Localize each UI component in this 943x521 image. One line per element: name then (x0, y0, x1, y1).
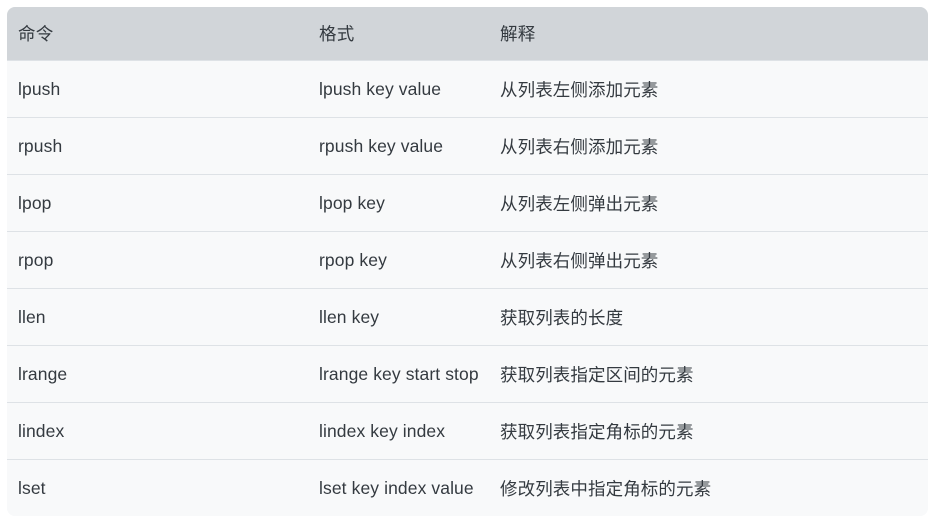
cell-command: lrange (7, 346, 163, 403)
column-header-description-label: 解释 (500, 21, 928, 46)
column-header-format: 格式 (163, 7, 500, 61)
column-header-command-label: 命令 (7, 21, 163, 46)
cell-command: rpop (7, 232, 163, 289)
cell-description-text: 从列表左侧添加元素 (500, 77, 928, 102)
cell-description: 修改列表中指定角标的元素 (500, 460, 928, 517)
cell-command-text: lpop (7, 193, 163, 214)
cell-format: rpop key (163, 232, 500, 289)
cell-command: lpop (7, 175, 163, 232)
cell-command: lpush (7, 61, 163, 118)
cell-format: lpop key (163, 175, 500, 232)
table-row: rpush rpush key value 从列表右侧添加元素 (7, 118, 928, 175)
cell-command: llen (7, 289, 163, 346)
cell-format-text: lrange key start stop (163, 364, 500, 385)
cell-format-text: rpush key value (163, 136, 500, 157)
cell-description-text: 从列表左侧弹出元素 (500, 191, 928, 216)
cell-command-text: lrange (7, 364, 163, 385)
table-row: llen llen key 获取列表的长度 (7, 289, 928, 346)
cell-format-text: lpush key value (163, 79, 500, 100)
cell-format-text: lset key index value (163, 478, 500, 499)
cell-command: lindex (7, 403, 163, 460)
cell-format: lrange key start stop (163, 346, 500, 403)
cell-format-text: lpop key (163, 193, 500, 214)
cell-format: rpush key value (163, 118, 500, 175)
cell-description: 从列表左侧弹出元素 (500, 175, 928, 232)
cell-format: lpush key value (163, 61, 500, 118)
cell-command-text: llen (7, 307, 163, 328)
cell-description: 从列表右侧添加元素 (500, 118, 928, 175)
table-header: 命令 格式 解释 (7, 7, 928, 61)
table-header-row: 命令 格式 解释 (7, 7, 928, 61)
cell-description-text: 获取列表指定区间的元素 (500, 362, 928, 387)
cell-format-text: lindex key index (163, 421, 500, 442)
cell-description: 获取列表指定区间的元素 (500, 346, 928, 403)
cell-format-text: llen key (163, 307, 500, 328)
cell-description-text: 获取列表指定角标的元素 (500, 419, 928, 444)
cell-command: lset (7, 460, 163, 517)
cell-description-text: 获取列表的长度 (500, 305, 928, 330)
column-header-command: 命令 (7, 7, 163, 61)
table-row: lrange lrange key start stop 获取列表指定区间的元素 (7, 346, 928, 403)
table-row: rpop rpop key 从列表右侧弹出元素 (7, 232, 928, 289)
column-header-format-label: 格式 (163, 21, 500, 46)
cell-command-text: lset (7, 478, 163, 499)
column-header-description: 解释 (500, 7, 928, 61)
cell-format: llen key (163, 289, 500, 346)
command-reference-table-container: 命令 格式 解释 lpush lpush key value 从列表左侧添加元素… (7, 7, 928, 516)
cell-description: 获取列表指定角标的元素 (500, 403, 928, 460)
cell-command: rpush (7, 118, 163, 175)
cell-description: 获取列表的长度 (500, 289, 928, 346)
table-row: lpop lpop key 从列表左侧弹出元素 (7, 175, 928, 232)
cell-command-text: rpop (7, 250, 163, 271)
table-row: lset lset key index value 修改列表中指定角标的元素 (7, 460, 928, 517)
cell-description-text: 从列表右侧添加元素 (500, 134, 928, 159)
cell-description-text: 修改列表中指定角标的元素 (500, 476, 928, 501)
redis-list-command-table: 命令 格式 解释 lpush lpush key value 从列表左侧添加元素… (7, 7, 928, 516)
cell-command-text: lindex (7, 421, 163, 442)
cell-command-text: lpush (7, 79, 163, 100)
cell-description-text: 从列表右侧弹出元素 (500, 248, 928, 273)
cell-format-text: rpop key (163, 250, 500, 271)
cell-format: lset key index value (163, 460, 500, 517)
cell-description: 从列表左侧添加元素 (500, 61, 928, 118)
cell-description: 从列表右侧弹出元素 (500, 232, 928, 289)
table-body: lpush lpush key value 从列表左侧添加元素 rpush rp… (7, 61, 928, 517)
table-row: lpush lpush key value 从列表左侧添加元素 (7, 61, 928, 118)
cell-command-text: rpush (7, 136, 163, 157)
table-row: lindex lindex key index 获取列表指定角标的元素 (7, 403, 928, 460)
cell-format: lindex key index (163, 403, 500, 460)
